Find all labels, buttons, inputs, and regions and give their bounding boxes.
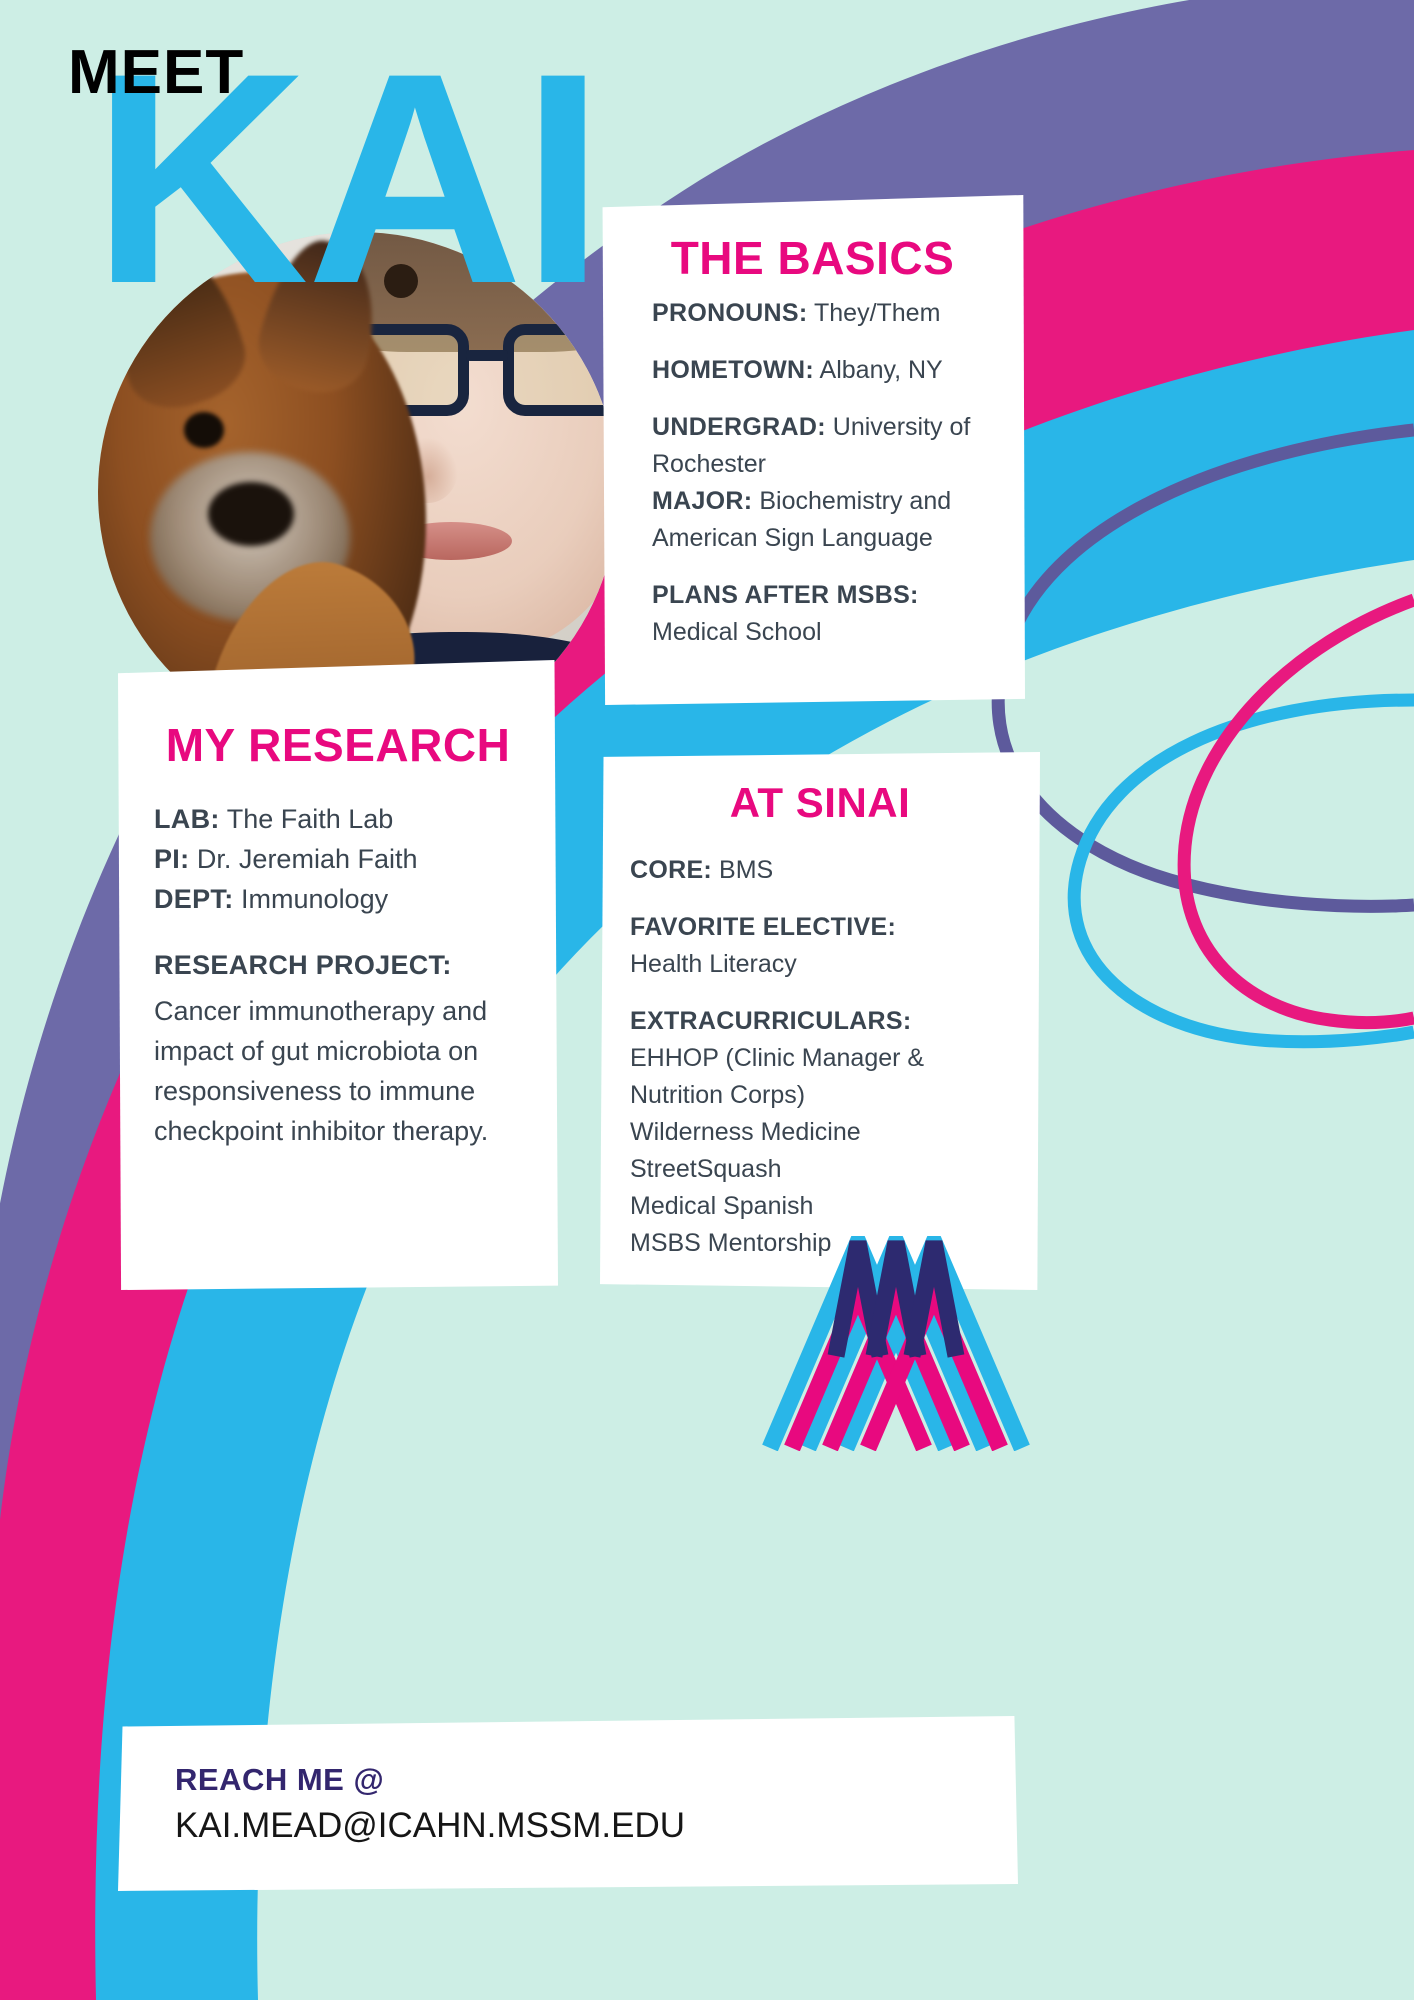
plans-value: Medical School	[652, 618, 822, 646]
list-item: Medical Spanish	[630, 1188, 1022, 1225]
basics-title: THE BASICS	[600, 195, 1025, 281]
mount-sinai-chevron-logo	[762, 1236, 1030, 1451]
sinai-title: AT SINAI	[600, 752, 1040, 824]
sinai-body: CORE: BMS FAVORITE ELECTIVE: Health Lite…	[600, 824, 1040, 1262]
extracurriculars-label: EXTRACURRICULARS:	[630, 1007, 911, 1035]
meet-label: MEET	[68, 42, 244, 104]
dept-label: DEPT:	[154, 884, 234, 914]
elective-value: Health Literacy	[630, 950, 797, 978]
basics-body: PRONOUNS: They/Them HOMETOWN: Albany, NY…	[600, 281, 1025, 651]
pronouns-label: PRONOUNS:	[652, 299, 807, 327]
research-body: LAB: The Faith Lab PI: Dr. Jeremiah Fait…	[118, 768, 558, 1152]
core-label: CORE:	[630, 856, 712, 884]
project-value: Cancer immunotherapy and impact of gut m…	[154, 992, 536, 1152]
research-card: MY RESEARCH LAB: The Faith Lab PI: Dr. J…	[118, 660, 558, 1290]
dept-value: Immunology	[241, 884, 388, 914]
basics-card: THE BASICS PRONOUNS: They/Them HOMETOWN:…	[600, 195, 1025, 705]
core-row: CORE: BMS	[630, 852, 1022, 889]
email-address[interactable]: KAI.MEAD@ICAHN.MSSM.EDU	[175, 1806, 685, 1846]
extracurriculars-list: EHHOP (Clinic Manager & Nutrition Corps)…	[630, 1040, 1022, 1262]
list-item: Wilderness Medicine	[630, 1114, 1022, 1151]
reach-me-label: REACH ME @	[175, 1762, 384, 1798]
glasses-bridge	[466, 350, 508, 361]
pi-label: PI:	[154, 844, 189, 874]
hometown-row: HOMETOWN: Albany, NY	[652, 352, 997, 389]
logo-svg	[762, 1236, 1030, 1451]
undergrad-label: UNDERGRAD:	[652, 413, 826, 441]
elective-row: FAVORITE ELECTIVE: Health Literacy	[630, 909, 1022, 983]
pi-row: PI: Dr. Jeremiah Faith	[154, 840, 536, 880]
project-row: RESEARCH PROJECT: Cancer immunotherapy a…	[154, 946, 536, 1152]
hometown-value: Albany, NY	[820, 356, 943, 384]
undergrad-row: UNDERGRAD: University of Rochester	[652, 409, 997, 483]
sinai-card: AT SINAI CORE: BMS FAVORITE ELECTIVE: He…	[600, 752, 1040, 1290]
list-item: StreetSquash	[630, 1151, 1022, 1188]
lab-row: LAB: The Faith Lab	[154, 800, 536, 840]
hometown-label: HOMETOWN:	[652, 356, 814, 384]
extracurriculars-row: EXTRACURRICULARS: EHHOP (Clinic Manager …	[630, 1003, 1022, 1262]
major-label: MAJOR:	[652, 487, 752, 515]
major-row: MAJOR: Biochemistry and American Sign La…	[652, 483, 997, 557]
list-item: EHHOP (Clinic Manager & Nutrition Corps)	[630, 1040, 1022, 1114]
lab-label: LAB:	[154, 804, 220, 834]
research-title: MY RESEARCH	[118, 660, 558, 768]
plans-row: PLANS AFTER MSBS: Medical School	[652, 577, 997, 651]
pronouns-row: PRONOUNS: They/Them	[652, 295, 997, 332]
dept-row: DEPT: Immunology	[154, 880, 536, 920]
lab-value: The Faith Lab	[227, 804, 394, 834]
dog-nose	[208, 482, 294, 546]
poster-canvas: KAI MEET THE BASICS PRONOUNS: They/The	[0, 0, 1414, 2000]
pi-value: Dr. Jeremiah Faith	[197, 844, 418, 874]
dog-eye	[184, 412, 224, 448]
plans-label: PLANS AFTER MSBS:	[652, 581, 919, 609]
elective-label: FAVORITE ELECTIVE:	[630, 913, 896, 941]
core-value: BMS	[719, 856, 773, 884]
project-label: RESEARCH PROJECT:	[154, 950, 452, 980]
pronouns-value: They/Them	[814, 299, 940, 327]
footer-card	[118, 1716, 1018, 1891]
